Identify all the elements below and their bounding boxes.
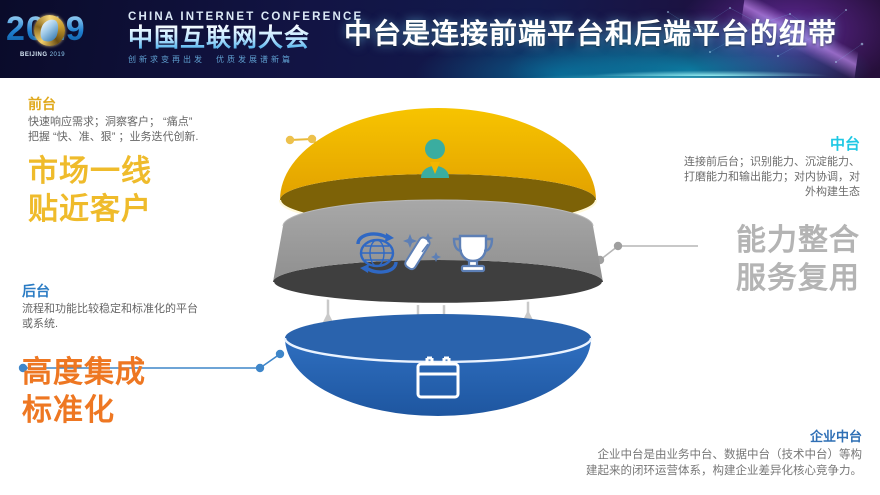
logo-emblem-icon [34,15,65,46]
slide-root: 2019 BEIJING 2019 CHINA INTERNET CONFERE… [0,0,880,495]
back-description: 流程和功能比较稳定和标准化的平台 或系统. [22,302,284,332]
middle-keyword-line-2: 服务复用 [598,260,860,298]
conference-name-group: CHINA INTERNET CONFERENCE 中国互联网大会 创新求变再出… [128,11,348,65]
middle-desc-line-1: 连接前后台；识别能力、沉淀能力、 [598,155,860,170]
enterprise-desc-line-2: 建起来的闭环运营体系，构建企业差异化核心竞争力。 [452,463,862,479]
middle-platform-block: 中台 连接前后台；识别能力、沉淀能力、 打磨能力和输出能力；对内协调，对 外构建… [598,136,860,298]
front-platform-block: 前台 快速响应需求；洞察客户； “痛点” 把握 “快、准、狠” ；业务迭代创新.… [28,96,290,229]
conference-name-en: CHINA INTERNET CONFERENCE [128,11,348,23]
logo-subyear-text: 2019 [50,52,65,58]
layered-platform-diagram [266,100,616,430]
conference-tagline: 创新求变再出发 优质发展谱新篇 [128,54,348,65]
back-platform-block: 后台 流程和功能比较稳定和标准化的平台 或系统. 高度集成 标准化 [22,283,284,430]
conference-banner: 2019 BEIJING 2019 CHINA INTERNET CONFERE… [0,0,880,78]
back-keyword-line-2: 标准化 [22,392,284,430]
front-desc-line-2: 把握 “快、准、狠” ；业务迭代创新. [28,130,290,145]
front-keyword-line-2: 贴近客户 [28,191,290,229]
banner-title: 中台是连接前端平台和后端平台的纽带 [344,17,837,51]
logo-city-text: BEIJING [20,52,48,58]
front-description: 快速响应需求；洞察客户； “痛点” 把握 “快、准、狠” ；业务迭代创新. [28,115,290,145]
middle-description: 连接前后台；识别能力、沉淀能力、 打磨能力和输出能力；对内协调，对 外构建生态 [598,155,860,200]
middle-heading: 中台 [598,136,860,153]
content-stage: 前台 快速响应需求；洞察客户； “痛点” 把握 “快、准、狠” ；业务迭代创新.… [0,78,880,495]
front-keyword-line-1: 市场一线 [28,153,290,191]
back-keyword-group: 高度集成 标准化 [22,354,284,430]
middle-desc-line-2: 打磨能力和输出能力；对内协调，对 [598,170,860,185]
middle-desc-line-3: 外构建生态 [598,185,860,200]
conference-logo: 2019 BEIJING 2019 [6,8,126,70]
middle-keyword-line-1: 能力整合 [598,222,860,260]
back-keyword-line-1: 高度集成 [22,354,284,392]
logo-subtitle: BEIJING 2019 [20,52,65,58]
conference-name-cn: 中国互联网大会 [128,24,348,52]
back-desc-line-1: 流程和功能比较稳定和标准化的平台 [22,302,284,317]
front-heading: 前台 [28,96,290,113]
enterprise-desc-line-1: 企业中台是由业务中台、数据中台（技术中台）等构 [452,447,862,463]
front-keyword-group: 市场一线 贴近客户 [28,153,290,229]
back-heading: 后台 [22,283,284,300]
front-desc-line-1: 快速响应需求；洞察客户； “痛点” [28,115,290,130]
middle-keyword-group: 能力整合 服务复用 [598,222,860,298]
bottom-layer-back-platform [285,314,591,416]
enterprise-heading: 企业中台 [452,428,862,445]
enterprise-platform-block: 企业中台 企业中台是由业务中台、数据中台（技术中台）等构 建起来的闭环运营体系，… [452,428,862,479]
enterprise-description: 企业中台是由业务中台、数据中台（技术中台）等构 建起来的闭环运营体系，构建企业差… [452,447,862,479]
back-desc-line-2: 或系统. [22,317,284,332]
middle-layer-platform [273,200,603,304]
